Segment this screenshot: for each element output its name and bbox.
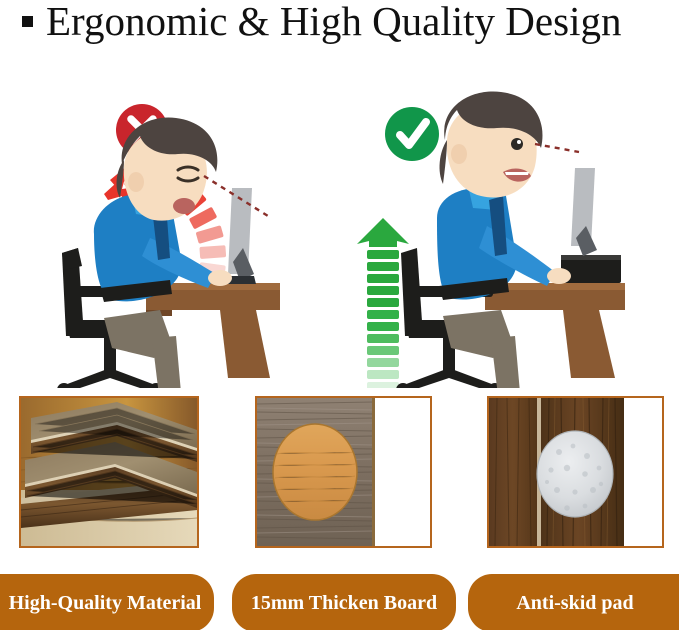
feature-label-1[interactable]: High-Quality Material (0, 574, 214, 630)
feature-photo-3 (487, 396, 664, 548)
illustration-bad-posture (0, 48, 340, 388)
check-circle-icon (385, 107, 439, 161)
person-good-posture (437, 92, 571, 388)
bullet-square-icon (22, 16, 33, 27)
page-title-text: Ergonomic & High Quality Design (46, 0, 621, 45)
feature-photo-2 (255, 396, 432, 548)
feature-label-2-text: 15mm Thicken Board (251, 592, 437, 615)
feature-label-1-text: High-Quality Material (9, 592, 202, 615)
sightline-dotted (535, 144, 579, 152)
feature-label-2[interactable]: 15mm Thicken Board (232, 574, 456, 630)
feature-photo-1 (19, 396, 199, 548)
illustration-good-posture (339, 48, 679, 388)
up-arrow-indicator (357, 218, 409, 388)
infographic-root: Ergonomic & High Quality Design (0, 0, 679, 630)
feature-label-3-text: Anti-skid pad (516, 592, 633, 615)
monitor (571, 168, 597, 256)
page-title: Ergonomic & High Quality Design (0, 0, 679, 48)
feature-label-3[interactable]: Anti-skid pad (468, 574, 679, 630)
